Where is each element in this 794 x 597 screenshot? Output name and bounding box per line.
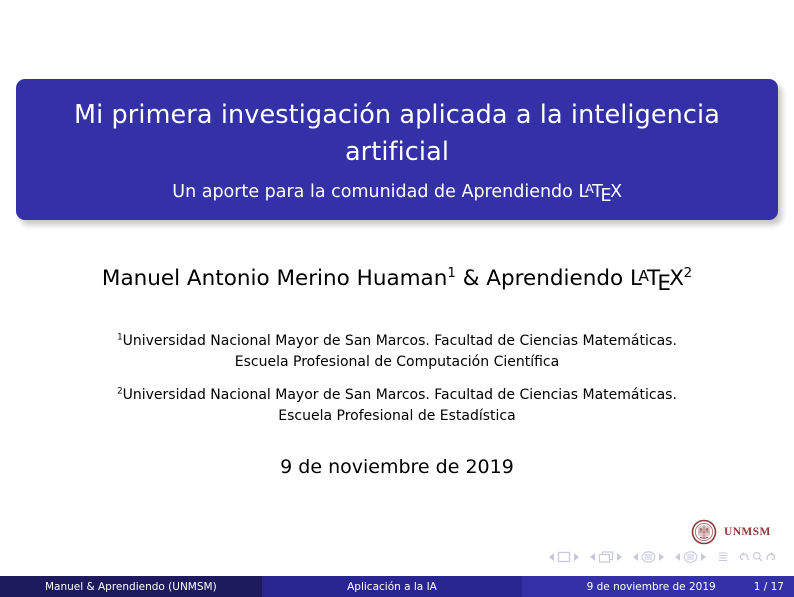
beamer-title-slide: Mi primera investigación aplicada a la i… (0, 0, 794, 597)
go-forward-icon (765, 551, 776, 563)
affiliation-1-line-1: Universidad Nacional Mayor de San Marcos… (123, 333, 677, 349)
presentation-subtitle: Un aporte para la comunidad de Aprendien… (40, 180, 754, 205)
presentation-date: 9 de noviembre de 2019 (0, 456, 794, 478)
author-footnote-marker-2: 2 (684, 266, 692, 281)
author-footnote-marker-1: 1 (447, 266, 455, 281)
footer-date: 9 de noviembre de 2019 (587, 581, 716, 593)
go-back-icon (739, 551, 750, 563)
subsection-navigation-group[interactable] (632, 551, 665, 563)
author-primary: Manuel Antonio Merino Huaman (102, 266, 447, 291)
frame-navigation-group[interactable] (589, 551, 623, 563)
section-navigation-icon (683, 551, 698, 563)
institution-logo: UNMSM (690, 518, 771, 546)
triangle-left-icon (589, 552, 596, 562)
slide-navigation-icon (557, 551, 571, 563)
latex-e: E (657, 271, 670, 296)
footer-title: Aplicación a la IA (262, 576, 523, 597)
document-navigation-group[interactable] (739, 551, 776, 563)
presentation-title: Mi primera investigación aplicada a la i… (40, 97, 754, 171)
affiliation-1-line-2: Escuela Profesional de Computación Cient… (0, 352, 794, 373)
unmsm-crest-icon (690, 518, 718, 546)
institution-logo-label: UNMSM (724, 526, 771, 538)
triangle-right-icon (616, 552, 623, 562)
author-separator: & Aprendiendo (456, 266, 630, 291)
footer-page-number: 1 / 17 (754, 581, 784, 593)
triangle-right-icon (658, 552, 665, 562)
affiliation-2-line-2: Escuela Profesional de Estadística (0, 406, 794, 427)
section-navigation-group[interactable] (674, 551, 707, 563)
frame-navigation-icon (598, 551, 614, 563)
latex-a: A (585, 181, 593, 196)
title-block-wrapper: Mi primera investigación aplicada a la i… (16, 79, 778, 220)
footer-date-and-page: 9 de noviembre de 2019 1 / 17 (522, 576, 794, 597)
presentation-navigation-icon (716, 551, 730, 563)
subtitle-text: Un aporte para la comunidad de Aprendien… (172, 182, 578, 202)
title-line-1: Mi primera investigación aplicada a la i… (40, 97, 754, 134)
latex-a: A (638, 267, 648, 285)
author-line: Manuel Antonio Merino Huaman1 & Aprendie… (0, 266, 794, 291)
subsection-navigation-icon (641, 551, 656, 563)
triangle-right-icon (700, 552, 707, 562)
presentation-navigation-group[interactable] (716, 551, 730, 563)
affiliation-2: 2Universidad Nacional Mayor de San Marco… (0, 385, 794, 427)
title-block: Mi primera investigación aplicada a la i… (16, 79, 778, 220)
slide-navigation-group[interactable] (548, 551, 580, 563)
latex-logo-subtitle: LATEX (578, 182, 621, 202)
slide-footer: Manuel & Aprendiendo (UNMSM) Aplicación … (0, 576, 794, 597)
latex-e: E (601, 186, 612, 206)
affiliation-1: 1Universidad Nacional Mayor de San Marco… (0, 331, 794, 373)
affiliation-2-line-1: Universidad Nacional Mayor de San Marcos… (123, 387, 677, 403)
affiliation-list: 1Universidad Nacional Mayor de San Marco… (0, 331, 794, 427)
triangle-right-icon (573, 552, 580, 562)
triangle-left-icon (548, 552, 555, 562)
footer-author: Manuel & Aprendiendo (UNMSM) (0, 576, 262, 597)
latex-x: X (669, 266, 683, 291)
title-line-2: artificial (40, 134, 754, 171)
search-icon (752, 551, 763, 563)
latex-x: X (610, 182, 622, 202)
triangle-left-icon (674, 552, 681, 562)
latex-logo-author: LATEX (630, 266, 684, 291)
beamer-navigation-symbols[interactable] (548, 551, 780, 563)
triangle-left-icon (632, 552, 639, 562)
